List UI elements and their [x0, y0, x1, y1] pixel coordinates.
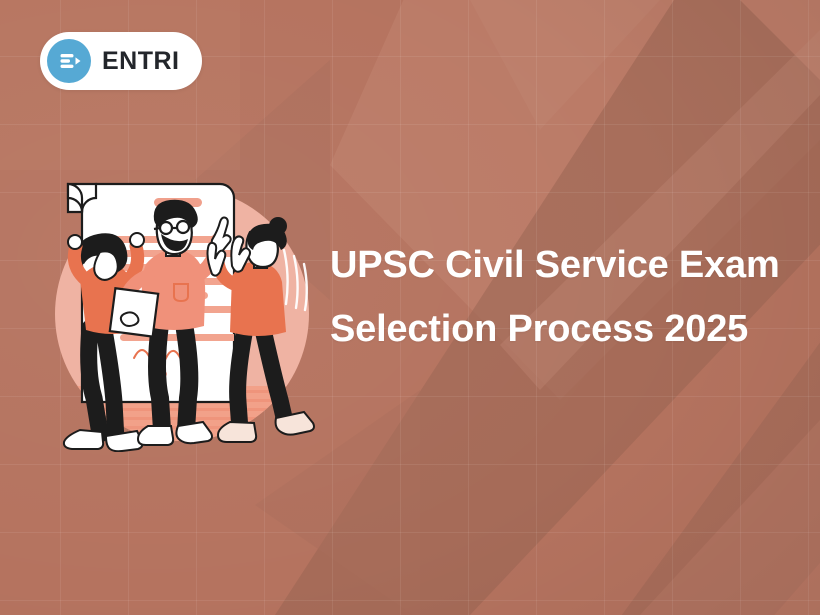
entri-wordmark: ENTRI: [102, 49, 180, 74]
entri-e-play-icon: [47, 39, 91, 83]
page-title-line-2: Selection Process 2025: [330, 297, 800, 361]
upsc-selection-process-banner: ENTRI UPSC Civil Service Exam Selection …: [0, 0, 820, 615]
celebration-illustration: [42, 168, 322, 452]
entri-logo[interactable]: ENTRI: [40, 32, 202, 90]
page-title: UPSC Civil Service Exam Selection Proces…: [330, 233, 800, 361]
page-title-line-1: UPSC Civil Service Exam: [330, 233, 800, 297]
